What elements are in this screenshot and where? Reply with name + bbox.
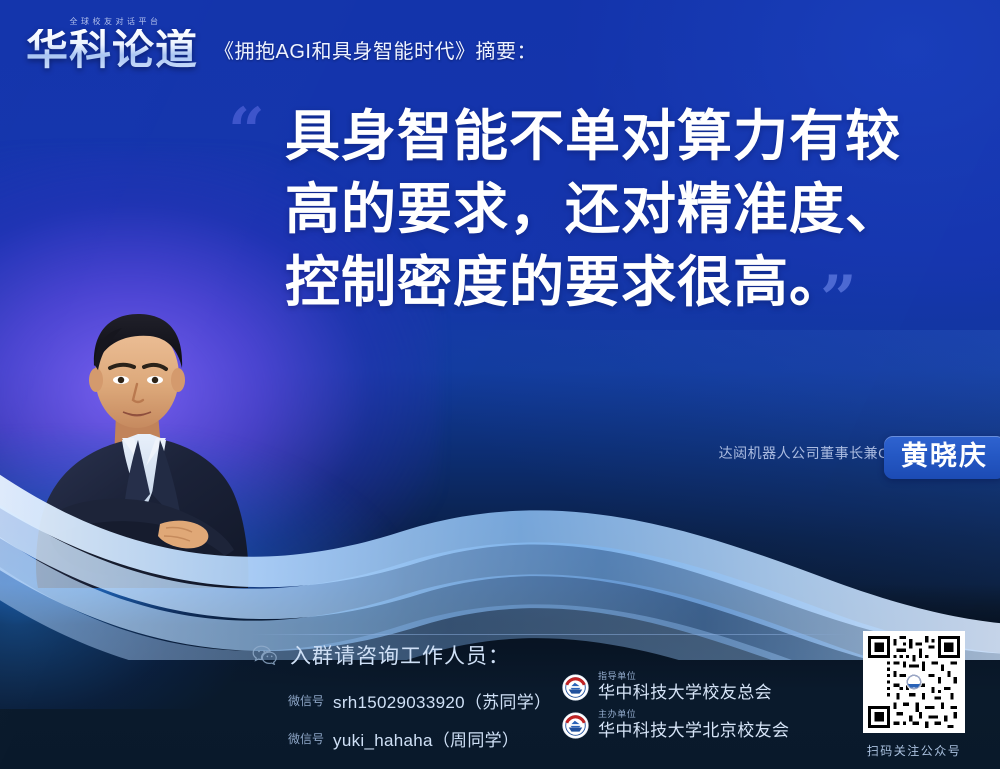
qr-section: 扫码关注公众号 [863, 631, 965, 759]
organization-text: 指导单位 华中科技大学校友总会 [598, 672, 772, 701]
quote-block: 具身智能不单对算力有较 高的要求，还对精准度、 控制密度的要求很高。 [285, 100, 955, 319]
page-title: 《拥抱AGI和具身智能时代》摘要： [214, 35, 537, 71]
wechat-id: srh15029033920（苏同学） [333, 688, 551, 713]
footer-heading: 入群请咨询工作人员： [252, 640, 852, 670]
attribution: 达闼机器人公司董事长兼CEO [719, 443, 910, 463]
organization-kind: 主办单位 [598, 710, 789, 719]
brand-logo: 全球校友对话平台 华科论道 [26, 16, 198, 71]
hust-emblem-icon [562, 712, 589, 739]
footer-title: 入群请咨询工作人员： [290, 640, 510, 670]
quote-line: 高的要求，还对精准度、 [285, 173, 955, 246]
organization-name: 华中科技大学北京校友会 [598, 722, 789, 740]
speaker-portrait [10, 288, 300, 588]
organization-row: 主办单位 华中科技大学北京校友会 [562, 706, 789, 744]
speaker-name-badge: 黄晓庆 [884, 436, 1000, 479]
poster: 全球校友对话平台 华科论道 《拥抱AGI和具身智能时代》摘要： “ ” 具身智能… [0, 0, 1000, 769]
quote-open-mark: “ [228, 100, 265, 164]
organization-kind: 指导单位 [598, 672, 772, 681]
wechat-label: 微信号 [288, 692, 324, 709]
footer-divider [252, 634, 847, 635]
wechat-label: 微信号 [288, 730, 324, 747]
speaker-role: 达闼机器人公司董事长兼CEO [719, 443, 910, 463]
organization-name: 华中科技大学校友总会 [598, 684, 772, 702]
header: 全球校友对话平台 华科论道 《拥抱AGI和具身智能时代》摘要： [26, 16, 537, 71]
organization-row: 指导单位 华中科技大学校友总会 [562, 668, 789, 706]
hust-emblem-icon [562, 674, 589, 701]
organization-list: 指导单位 华中科技大学校友总会 主办单位 华中科技大学北京校友会 [562, 668, 789, 744]
quote-line: 具身智能不单对算力有较 [285, 100, 955, 173]
wechat-icon [252, 645, 278, 665]
logo-wordmark: 华科论道 [26, 29, 198, 71]
qr-code[interactable] [863, 631, 965, 733]
quote-line: 控制密度的要求很高。 [285, 246, 955, 319]
organization-text: 主办单位 华中科技大学北京校友会 [598, 710, 789, 739]
wechat-id: yuki_hahaha（周同学） [333, 726, 519, 751]
qr-caption: 扫码关注公众号 [863, 742, 965, 759]
